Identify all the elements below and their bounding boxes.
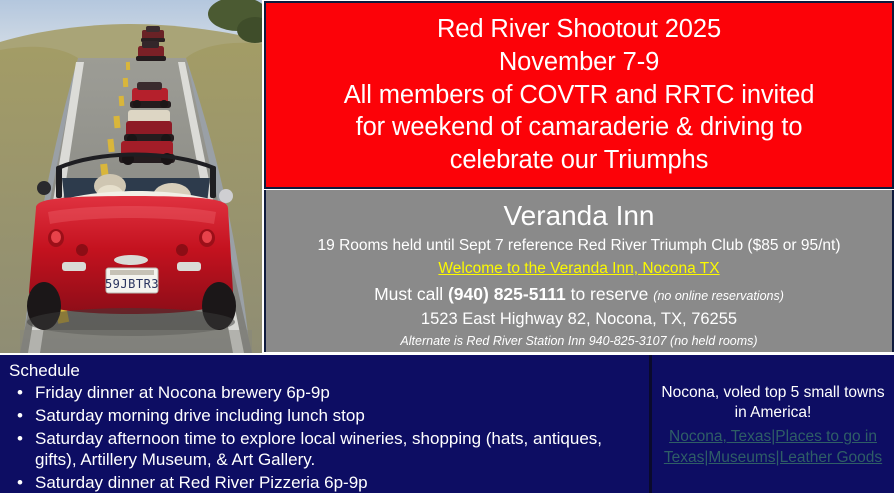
list-item: • Saturday dinner at Red River Pizzeria … [9, 472, 641, 493]
photo-illustration: 59JBTR3 [0, 0, 262, 353]
bullet-icon: • [17, 428, 23, 450]
veranda-inn-website-link[interactable]: Welcome to the Veranda Inn, Nocona TX [266, 258, 892, 280]
nocona-tagline: Nocona, voled top 5 small towns in Ameri… [658, 383, 888, 424]
schedule-title: Schedule [9, 360, 641, 381]
svg-text:59JBTR3: 59JBTR3 [105, 277, 159, 291]
list-item-label: Saturday morning drive including lunch s… [35, 406, 365, 425]
event-headline-text: Red River Shootout 2025 November 7-9 All… [334, 13, 825, 177]
event-headline-banner: Red River Shootout 2025 November 7-9 All… [264, 1, 894, 189]
lodging-panel: Veranda Inn 19 Rooms held until Sept 7 r… [264, 190, 894, 352]
rooms-held-line: 19 Rooms held until Sept 7 reference Red… [266, 235, 892, 257]
triumph-convoy-photo: 59JBTR3 [0, 0, 262, 353]
schedule-list: • Friday dinner at Nocona brewery 6p-9p … [9, 382, 641, 493]
nocona-promo-panel: Nocona, voled top 5 small towns in Ameri… [652, 355, 894, 493]
inn-address: 1523 East Highway 82, Nocona, TX, 76255 [266, 308, 892, 331]
lead-triumph-car: 59JBTR3 [27, 155, 236, 337]
call-prefix-text: Must call [374, 284, 448, 304]
flyer-page: 59JBTR3 Red River Shootout 2025 November… [0, 0, 894, 493]
nocona-texas-link[interactable]: Nocona, Texas|Places to go in Texas|Muse… [658, 426, 888, 468]
list-item: • Saturday afternoon time to explore loc… [9, 428, 641, 471]
no-online-reservations-note: (no online reservations) [653, 289, 784, 303]
bullet-icon: • [17, 382, 23, 404]
alternate-hotel-note: Alternate is Red River Station Inn 940-8… [266, 333, 892, 351]
schedule-panel: Schedule • Friday dinner at Nocona brewe… [0, 355, 649, 493]
reservation-phone-number[interactable]: (940) 825-5111 [448, 284, 566, 304]
list-item-label: Saturday dinner at Red River Pizzeria 6p… [35, 473, 368, 492]
list-item: • Saturday morning drive including lunch… [9, 405, 641, 427]
call-suffix-text: to reserve [566, 284, 654, 304]
bullet-icon: • [17, 405, 23, 427]
license-plate: 59JBTR3 [105, 268, 159, 293]
list-item-label: Saturday afternoon time to explore local… [35, 429, 602, 470]
list-item: • Friday dinner at Nocona brewery 6p-9p [9, 382, 641, 404]
inn-name: Veranda Inn [266, 198, 892, 233]
bullet-icon: • [17, 472, 23, 493]
reservation-instruction: Must call (940) 825-5111 to reserve (no … [266, 282, 892, 307]
list-item-label: Friday dinner at Nocona brewery 6p-9p [35, 383, 330, 402]
